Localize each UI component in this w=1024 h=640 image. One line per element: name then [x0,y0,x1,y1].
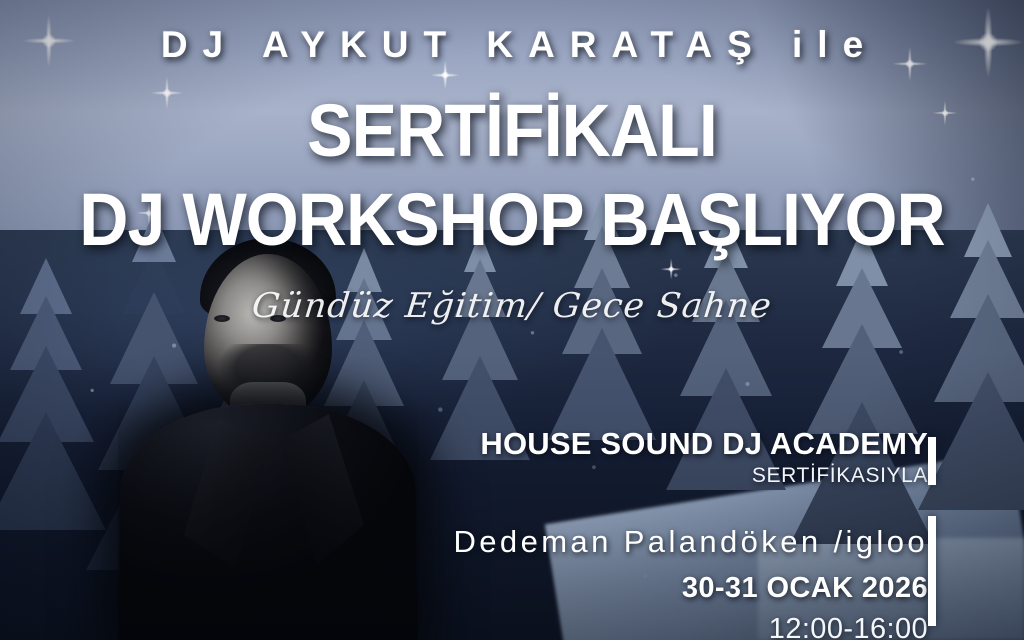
event-times: 12:00-16:00 [368,613,928,640]
event-dates: 30-31 OCAK 2026 [368,572,928,605]
headline-line-1: SERTİFİKALI [41,97,983,165]
event-info-block: HOUSE SOUND DJ ACADEMY SERTİFİKASIYLA De… [368,428,928,640]
kicker-line: DJ AYKUT KARATAŞ ile [0,24,1024,66]
venue-name: Dedeman Palandöken /igloo [368,524,928,560]
accent-rule-top [928,437,936,485]
event-poster: DJ AYKUT KARATAŞ ile SERTİFİKALI DJ WORK… [0,0,1024,640]
headline-line-2: DJ WORKSHOP BAŞLIYOR [41,186,983,254]
academy-name: HOUSE SOUND DJ ACADEMY [368,428,928,461]
tagline-script: Gündüz Eğitim/ Gece Sahne [0,286,1024,326]
poster-content: DJ AYKUT KARATAŞ ile SERTİFİKALI DJ WORK… [0,0,1024,640]
academy-certification-label: SERTİFİKASIYLA [368,464,928,488]
accent-rule-bottom [928,516,936,626]
